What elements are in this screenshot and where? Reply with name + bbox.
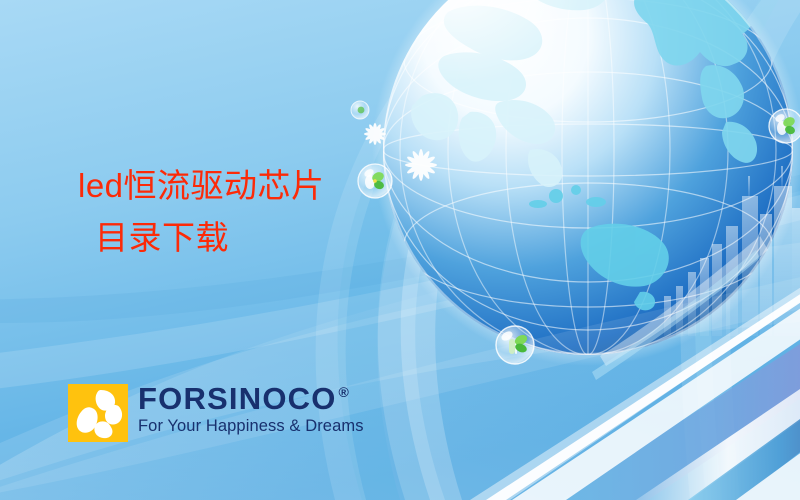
pinwheel-petals-icon bbox=[68, 384, 128, 442]
registered-trademark-icon: ® bbox=[339, 385, 351, 399]
diagonal-ribbon-bands bbox=[470, 262, 800, 500]
company-logo: FORSINOCO ® For Your Happiness & Dreams bbox=[68, 384, 364, 442]
globe-graphic bbox=[362, 0, 800, 410]
headline-line-2: 目录下载 bbox=[78, 212, 325, 264]
bubble-sprout-lower bbox=[496, 326, 534, 364]
promo-banner: led恒流驱动芯片 目录下载 FORSINOCO ® bbox=[0, 0, 800, 500]
headline-block: led恒流驱动芯片 目录下载 bbox=[78, 160, 325, 264]
logo-tagline: For Your Happiness & Dreams bbox=[138, 417, 364, 436]
bubble-pinwheel-top bbox=[351, 101, 369, 119]
logo-wordmark: FORSINOCO ® bbox=[138, 384, 364, 414]
city-skyline-silhouette bbox=[664, 166, 800, 336]
logo-text: FORSINOCO ® For Your Happiness & Dreams bbox=[138, 384, 364, 436]
headline-line-1: led恒流驱动芯片 bbox=[78, 160, 325, 212]
bubble-globe-right bbox=[769, 109, 800, 143]
bubble-pinwheel-main bbox=[358, 164, 392, 198]
starburst-large bbox=[405, 149, 437, 181]
starburst-small bbox=[364, 123, 386, 145]
logo-name-text: FORSINOCO bbox=[138, 384, 337, 414]
logo-mark bbox=[68, 384, 128, 442]
